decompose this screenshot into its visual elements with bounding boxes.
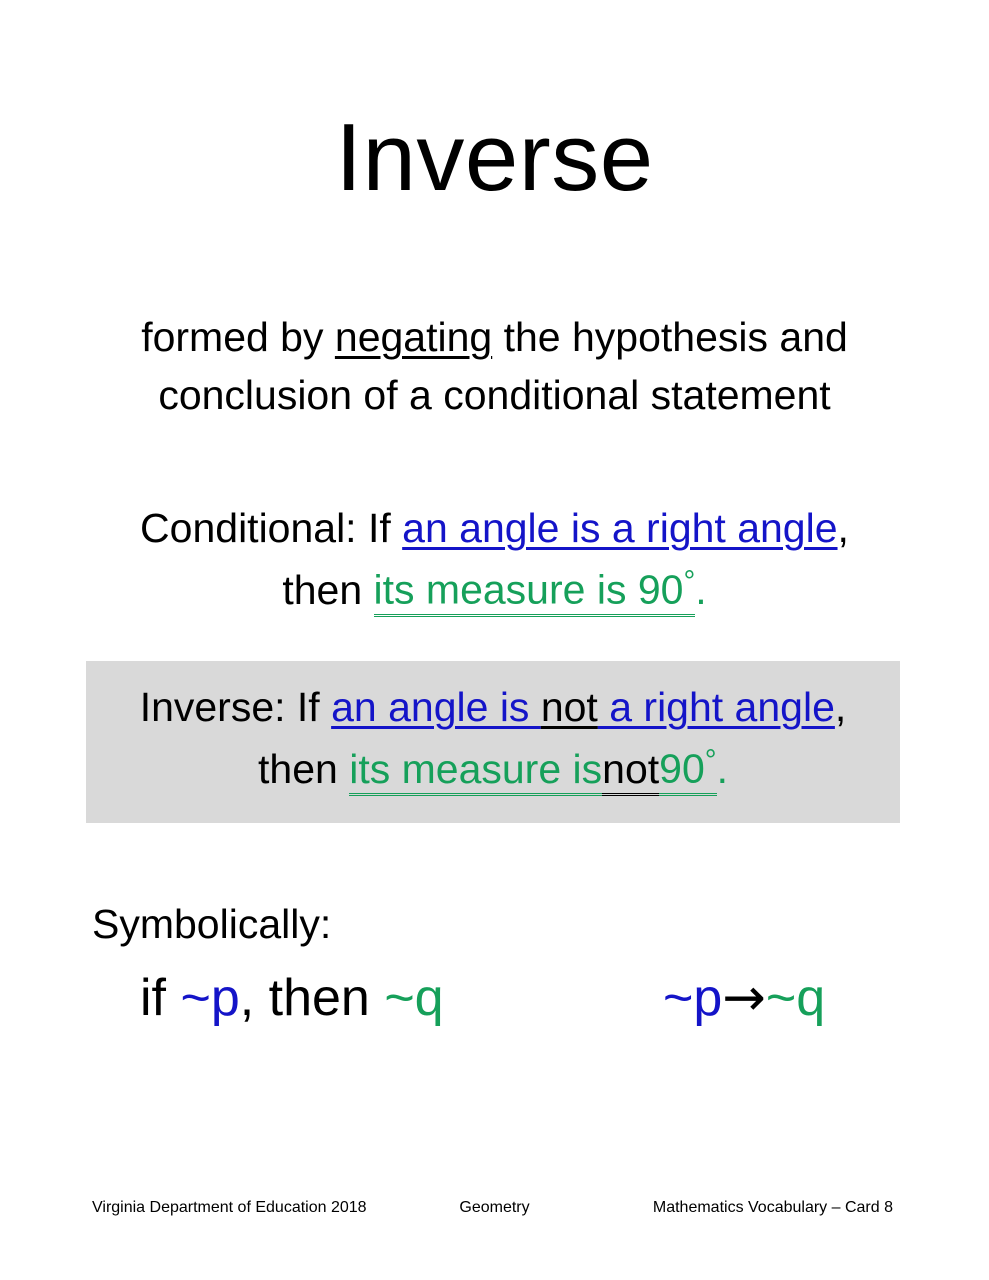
definition-before: formed by bbox=[141, 314, 335, 360]
symbolic-then: , then bbox=[240, 969, 385, 1027]
vocabulary-card: Inverse formed by negating the hypothesi… bbox=[0, 0, 989, 1280]
symbolic-verbal-form: if ~p, then ~q bbox=[140, 967, 444, 1029]
conditional-period: . bbox=[695, 567, 706, 613]
symbolic-not-p: ~p bbox=[663, 969, 722, 1027]
conditional-conclusion: its measure is 90° bbox=[374, 566, 696, 616]
conditional-conclusion-text: its measure is 90 bbox=[374, 567, 684, 613]
inverse-hypothesis-part2: a right angle bbox=[598, 684, 835, 730]
footer: Virginia Department of Education 2018 Ge… bbox=[0, 1199, 989, 1227]
inverse-then: then bbox=[258, 746, 349, 792]
symbolic-if: if bbox=[140, 969, 180, 1027]
implies-arrow-icon: → bbox=[722, 968, 766, 1028]
page-title: Inverse bbox=[0, 108, 989, 209]
conditional-hypothesis: an angle is a right angle bbox=[402, 505, 837, 551]
definition-text: formed by negating the hypothesis and co… bbox=[60, 308, 929, 424]
symbolic-not-q: ~q bbox=[766, 969, 825, 1027]
conditional-label: Conditional: If bbox=[140, 505, 402, 551]
footer-card-number: Mathematics Vocabulary – Card 8 bbox=[653, 1199, 893, 1217]
conditional-statement: Conditional: If an angle is a right angl… bbox=[60, 498, 929, 621]
inverse-conclusion-not: not bbox=[602, 748, 659, 796]
definition-after: the hypothesis and bbox=[492, 314, 848, 360]
inverse-hypothesis-part1: an angle is bbox=[331, 684, 541, 730]
definition-line2: conclusion of a conditional statement bbox=[158, 372, 830, 418]
symbolic-arrow-form: ~p→~q bbox=[663, 967, 825, 1029]
inverse-hypothesis-not: not bbox=[541, 684, 598, 730]
symbolically-label: Symbolically: bbox=[92, 900, 331, 949]
symbolic-not-p: ~p bbox=[180, 969, 239, 1027]
inverse-conclusion-part1: its measure is bbox=[349, 748, 602, 796]
definition-emphasis-negating: negating bbox=[335, 314, 492, 360]
conditional-then: then bbox=[282, 567, 373, 613]
symbolic-not-q: ~q bbox=[384, 969, 443, 1027]
inverse-statement-box: Inverse: If an angle is not a right angl… bbox=[86, 661, 900, 823]
degree-symbol: ° bbox=[683, 565, 695, 598]
inverse-conclusion-part2: 90° bbox=[659, 745, 716, 795]
inverse-period: . bbox=[717, 746, 728, 792]
inverse-comma: , bbox=[835, 684, 846, 730]
inverse-conclusion-number: 90 bbox=[659, 746, 705, 792]
conditional-comma: , bbox=[838, 505, 849, 551]
degree-symbol: ° bbox=[705, 744, 717, 777]
inverse-label: Inverse: If bbox=[140, 684, 331, 730]
